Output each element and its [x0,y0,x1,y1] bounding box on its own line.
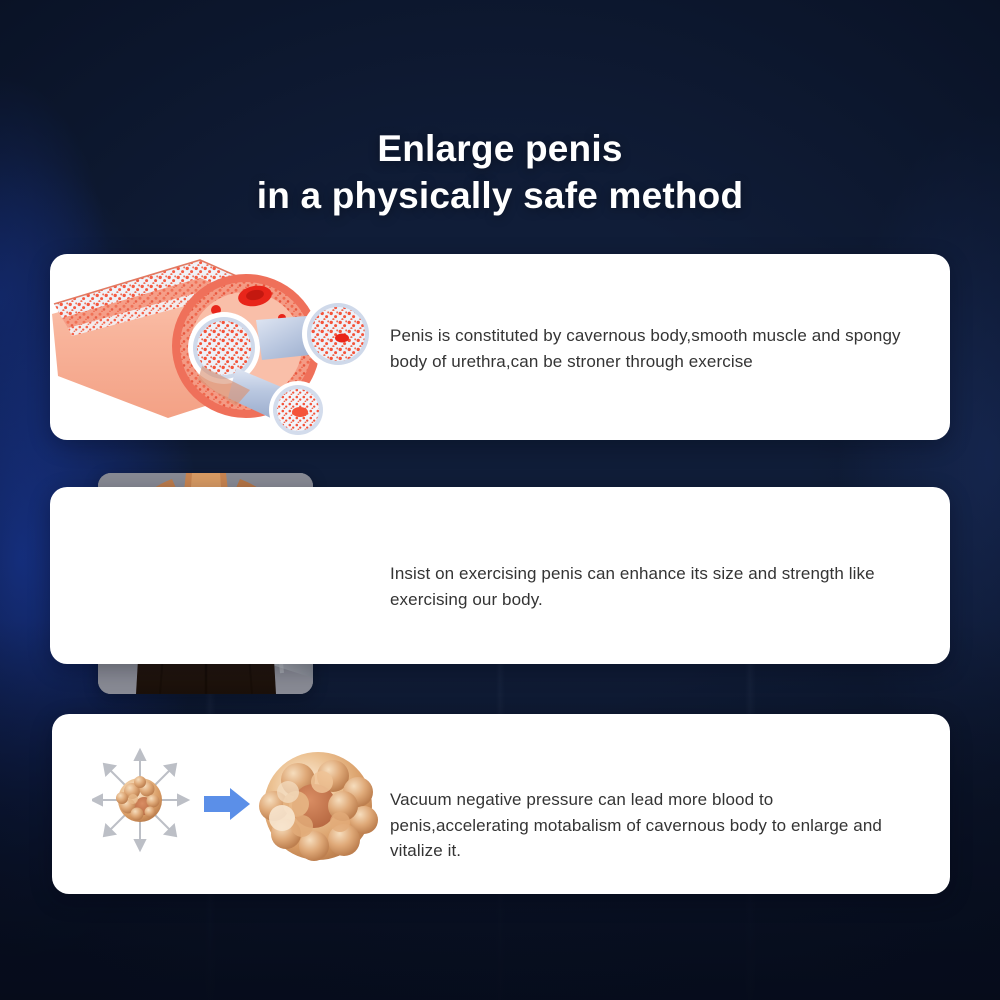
promo-page: Enlarge penis in a physically safe metho… [0,0,1000,1000]
feature-card-anatomy: Penis is constituted by cavernous body,s… [50,254,950,440]
penis-cross-section-illustration [50,248,380,444]
feature-card-vacuum-text: Vacuum negative pressure can lead more b… [390,787,915,864]
page-title: Enlarge penis in a physically safe metho… [0,125,1000,219]
page-title-line-1: Enlarge penis [0,125,1000,172]
feature-card-exercise: Insist on exercising penis can enhance i… [50,487,950,664]
feature-card-exercise-text: Insist on exercising penis can enhance i… [390,561,912,612]
feature-card-anatomy-text: Penis is constituted by cavernous body,s… [390,323,912,374]
cell-enlargement-diagram [92,742,382,872]
page-title-line-2: in a physically safe method [0,172,1000,219]
feature-card-vacuum: Vacuum negative pressure can lead more b… [52,714,950,894]
